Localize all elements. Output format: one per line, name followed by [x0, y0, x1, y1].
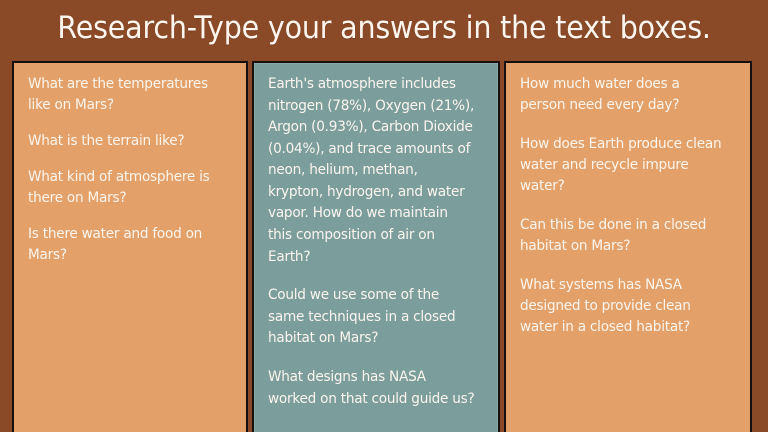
question-text: How much water does a person need every …: [520, 74, 727, 116]
slide-title-bar: Research-Type your answers in the text b…: [0, 0, 768, 57]
atmosphere-textbox[interactable]: Earth's atmosphere includes nitrogen (78…: [252, 61, 500, 432]
slide-canvas: Research-Type your answers in the text b…: [0, 0, 768, 432]
question-text: Is there water and food on Mars?: [28, 224, 224, 266]
question-text: What systems has NASA designed to provid…: [520, 275, 727, 338]
page-title: Research-Type your answers in the text b…: [57, 13, 710, 44]
question-text: Can this be done in a closed habitat on …: [520, 215, 727, 257]
question-text: What are the temperatures like on Mars?: [28, 74, 224, 116]
question-text: What is the terrain like?: [28, 131, 224, 152]
question-text: Earth's atmosphere includes nitrogen (78…: [268, 74, 475, 268]
question-text: What kind of atmosphere is there on Mars…: [28, 167, 224, 209]
mars-conditions-textbox[interactable]: What are the temperatures like on Mars? …: [12, 61, 248, 432]
question-text: Could we use some of the same techniques…: [268, 285, 475, 350]
question-text: What designs has NASA worked on that cou…: [268, 367, 475, 410]
question-text: How does Earth produce clean water and r…: [520, 134, 727, 197]
water-textbox[interactable]: How much water does a person need every …: [504, 61, 752, 432]
